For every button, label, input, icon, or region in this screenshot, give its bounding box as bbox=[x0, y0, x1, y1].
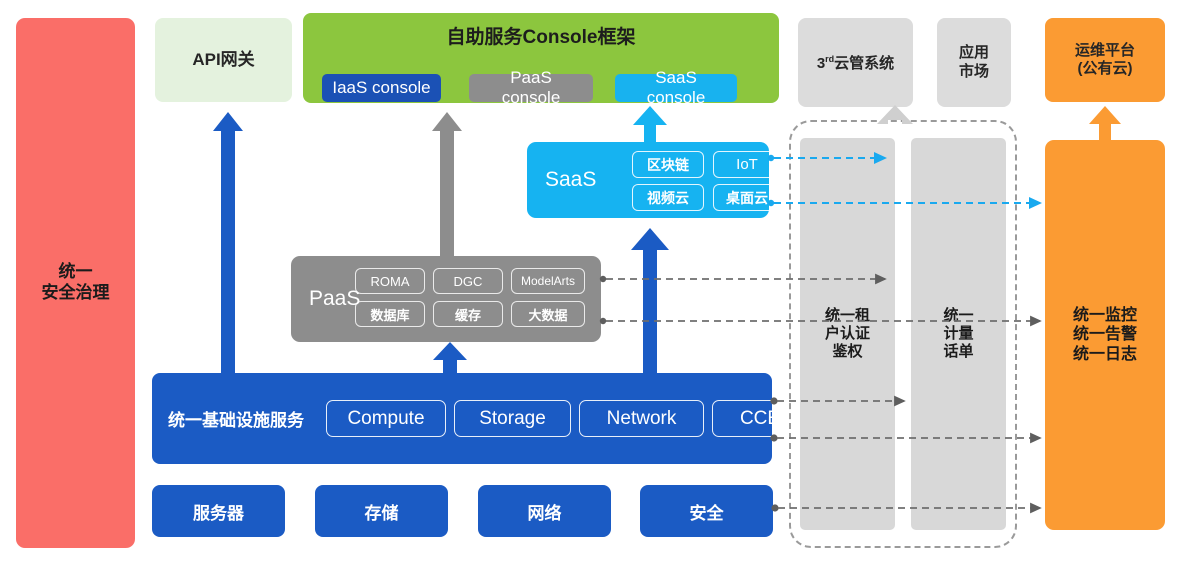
hardware-box-server[interactable]: 服务器 bbox=[152, 485, 285, 537]
iaas-chip-storage[interactable]: Storage bbox=[454, 400, 571, 437]
paas-chip-roma[interactable]: ROMA bbox=[355, 268, 425, 294]
architecture-diagram: 统一 安全治理 API网关 自助服务Console框架 IaaS console… bbox=[0, 0, 1200, 574]
hardware-box-security[interactable]: 安全 bbox=[640, 485, 773, 537]
paas-chip-dgc[interactable]: DGC bbox=[433, 268, 503, 294]
console-frame-title: 自助服务Console框架 bbox=[303, 22, 779, 49]
third-party-cloud-management-box[interactable]: 3rd云管系统 bbox=[798, 18, 913, 107]
arrow-ops-panel-to-ops-platform bbox=[1089, 106, 1121, 140]
shared-column-metering-billing-label: 统一 计量 话单 bbox=[943, 307, 973, 362]
api-gateway-label: API网关 bbox=[192, 50, 254, 71]
unified-monitoring-label: 统一监控 统一告警 统一日志 bbox=[1073, 306, 1137, 365]
arrow-saas-to-saas-console bbox=[633, 106, 667, 142]
shared-column-tenant-auth[interactable]: 统一租 户认证 鉴权 bbox=[800, 138, 895, 530]
saas-layer-label: SaaS bbox=[545, 142, 596, 218]
iaas-bar-title: 统一基础设施服务 bbox=[168, 373, 304, 464]
iaas-chip-network[interactable]: Network bbox=[579, 400, 704, 437]
hardware-box-storage[interactable]: 存储 bbox=[315, 485, 448, 537]
saas-layer-block[interactable]: SaaS 区块链 IoT 视频云 桌面云 bbox=[527, 142, 769, 218]
hardware-box-network[interactable]: 网络 bbox=[478, 485, 611, 537]
iaas-chip-compute[interactable]: Compute bbox=[326, 400, 446, 437]
arrow-iaas-to-api-gateway bbox=[213, 112, 243, 373]
app-market-box[interactable]: 应用 市场 bbox=[937, 18, 1011, 107]
saas-console-tag[interactable]: SaaS console bbox=[615, 74, 737, 102]
iaas-infrastructure-bar[interactable]: 统一基础设施服务 Compute Storage Network CCE bbox=[152, 373, 772, 464]
third-party-cloud-label: 3rd云管系统 bbox=[817, 52, 894, 73]
paas-layer-label: PaaS bbox=[309, 256, 360, 342]
shared-column-tenant-auth-label: 统一租 户认证 鉴权 bbox=[825, 307, 870, 362]
arrow-iaas-to-paas bbox=[433, 342, 467, 373]
shared-column-metering-billing[interactable]: 统一 计量 话单 bbox=[911, 138, 1006, 530]
unified-security-governance-label: 统一 安全治理 bbox=[42, 262, 110, 303]
unified-security-governance-panel[interactable]: 统一 安全治理 bbox=[16, 18, 135, 548]
saas-chip-blockchain[interactable]: 区块链 bbox=[632, 151, 704, 178]
unified-monitoring-panel[interactable]: 统一监控 统一告警 统一日志 bbox=[1045, 140, 1165, 530]
self-service-console-frame[interactable]: 自助服务Console框架 IaaS console PaaS console … bbox=[303, 13, 779, 103]
app-market-label: 应用 市场 bbox=[959, 44, 989, 81]
api-gateway-box[interactable]: API网关 bbox=[155, 18, 292, 102]
iaas-console-tag[interactable]: IaaS console bbox=[322, 74, 441, 102]
saas-chip-iot[interactable]: IoT bbox=[713, 151, 781, 178]
saas-chip-desktop-cloud[interactable]: 桌面云 bbox=[713, 184, 781, 211]
arrow-paas-to-console-frame bbox=[432, 112, 462, 256]
paas-chip-modelarts[interactable]: ModelArts bbox=[511, 268, 585, 294]
paas-chip-cache[interactable]: 缓存 bbox=[433, 301, 503, 327]
saas-chip-video-cloud[interactable]: 视频云 bbox=[632, 184, 704, 211]
paas-console-tag[interactable]: PaaS console bbox=[469, 74, 593, 102]
ops-platform-public-cloud-box[interactable]: 运维平台 (公有云) bbox=[1045, 18, 1165, 102]
ops-platform-label: 运维平台 (公有云) bbox=[1075, 42, 1135, 79]
arrow-iaas-to-saas bbox=[631, 228, 669, 373]
paas-chip-database[interactable]: 数据库 bbox=[355, 301, 425, 327]
paas-layer-block[interactable]: PaaS ROMA DGC ModelArts 数据库 缓存 大数据 bbox=[291, 256, 601, 342]
paas-chip-bigdata[interactable]: 大数据 bbox=[511, 301, 585, 327]
